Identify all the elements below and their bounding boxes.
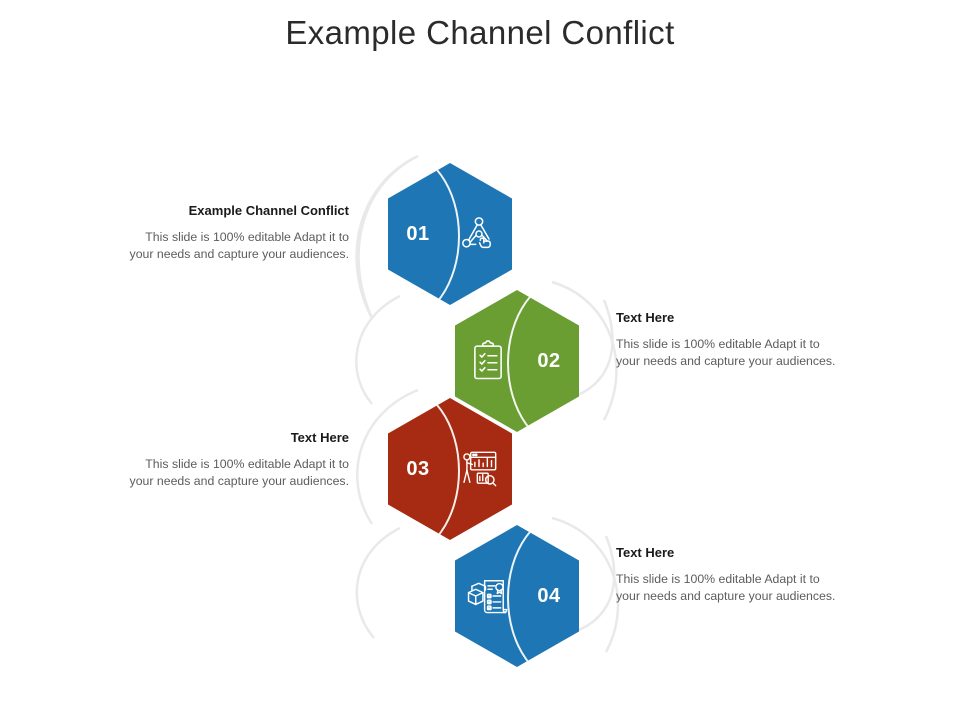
text-block-01-body: This slide is 100% editable Adapt it to … xyxy=(129,229,349,264)
text-block-02-body: This slide is 100% editable Adapt it to … xyxy=(616,336,836,371)
presentation-chart-icon xyxy=(450,398,508,540)
step-number-01: 01 xyxy=(390,163,446,305)
text-block-04: Text Here This slide is 100% editable Ad… xyxy=(616,545,836,606)
package-checklist-icon xyxy=(459,525,517,667)
text-block-01: Example Channel Conflict This slide is 1… xyxy=(129,203,349,264)
network-hand-icon xyxy=(450,163,508,305)
step-node-03[interactable]: 03 xyxy=(388,398,512,540)
step-node-01[interactable]: 01 xyxy=(388,163,512,305)
step-number-02: 02 xyxy=(521,290,577,432)
step-number-04: 04 xyxy=(521,525,577,667)
step-node-04[interactable]: 04 xyxy=(455,525,579,667)
text-block-03: Text Here This slide is 100% editable Ad… xyxy=(129,430,349,491)
text-block-02: Text Here This slide is 100% editable Ad… xyxy=(616,310,836,371)
text-block-03-body: This slide is 100% editable Adapt it to … xyxy=(129,456,349,491)
text-block-02-heading: Text Here xyxy=(616,310,836,325)
text-block-04-heading: Text Here xyxy=(616,545,836,560)
slide-canvas: Example Channel Conflict 01 xyxy=(0,0,960,720)
text-block-03-heading: Text Here xyxy=(129,430,349,445)
text-block-04-body: This slide is 100% editable Adapt it to … xyxy=(616,571,836,606)
step-number-03: 03 xyxy=(390,398,446,540)
text-block-01-heading: Example Channel Conflict xyxy=(129,203,349,218)
